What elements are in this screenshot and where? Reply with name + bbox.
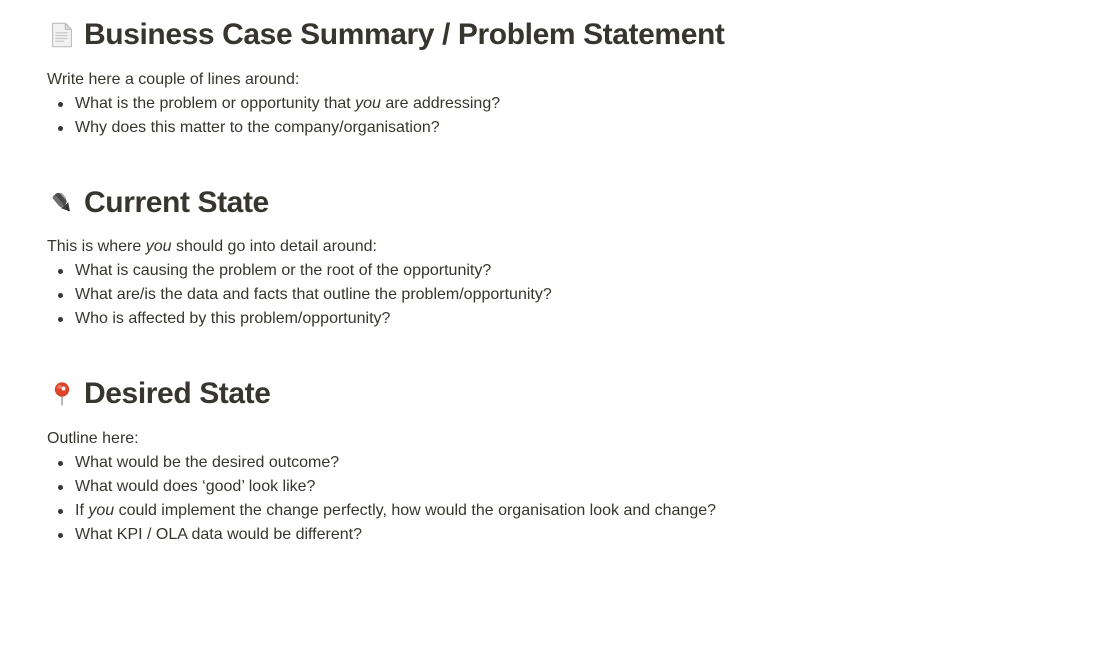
section-heading-desired-state: Desired State <box>47 375 1112 413</box>
section-heading-text: Desired State <box>84 375 271 413</box>
list-item-text-after: are addressing? <box>381 95 500 112</box>
list-item: What KPI / OLA data would be different? <box>47 523 1112 547</box>
section-lead-text: This is where you should go into detail … <box>47 235 1112 259</box>
list-item-text-after: could implement the change perfectly, ho… <box>114 502 716 519</box>
list-item: What would be the desired outcome? <box>47 451 1112 475</box>
list-item-text-before: What KPI / OLA data would be different? <box>75 526 362 543</box>
list-item: What is causing the problem or the root … <box>47 259 1112 283</box>
list-item-emphasis: you <box>88 502 114 519</box>
section-heading-text: Current State <box>84 184 269 222</box>
list-item-text-before: What would does ‘good’ look like? <box>75 478 315 495</box>
list-item-emphasis: you <box>355 95 381 112</box>
list-item-text-before: What is causing the problem or the root … <box>75 262 491 279</box>
lead-text-before: This is where <box>47 238 146 255</box>
section-lead-text: Write here a couple of lines around: <box>47 68 1112 92</box>
document-page: Business Case Summary / Problem Statemen… <box>0 16 1112 547</box>
section-current-state: Current State This is where you should g… <box>47 184 1112 332</box>
list-item-text-before: What are/is the data and facts that outl… <box>75 286 552 303</box>
list-item-text-before: Why does this matter to the company/orga… <box>75 119 440 136</box>
section-desired-state: Desired State Outline here: What would b… <box>47 375 1112 547</box>
section-heading-current-state: Current State <box>47 184 1112 222</box>
bullet-list-desired-state: What would be the desired outcome? What … <box>47 451 1112 547</box>
section-heading-text: Business Case Summary / Problem Statemen… <box>84 16 725 54</box>
list-item: Who is affected by this problem/opportun… <box>47 307 1112 331</box>
round-pushpin-icon <box>47 379 77 409</box>
list-item-text-before: If <box>75 502 88 519</box>
bullet-list-current-state: What is causing the problem or the root … <box>47 259 1112 331</box>
list-item: What would does ‘good’ look like? <box>47 475 1112 499</box>
pen-icon <box>47 187 77 217</box>
list-item: If you could implement the change perfec… <box>47 499 1112 523</box>
lead-text-after: should go into detail around: <box>172 238 377 255</box>
lead-emphasis: you <box>146 238 172 255</box>
list-item: What is the problem or opportunity that … <box>47 92 1112 116</box>
bullet-list-business-case: What is the problem or opportunity that … <box>47 92 1112 140</box>
list-item-text-before: Who is affected by this problem/opportun… <box>75 310 390 327</box>
page-facing-up-icon <box>47 20 77 50</box>
section-lead-text: Outline here: <box>47 427 1112 451</box>
list-item: What are/is the data and facts that outl… <box>47 283 1112 307</box>
section-business-case-summary: Business Case Summary / Problem Statemen… <box>47 16 1112 140</box>
page-title: Business Case Summary / Problem Statemen… <box>47 16 1112 54</box>
list-item-text-before: What is the problem or opportunity that <box>75 95 355 112</box>
list-item-text-before: What would be the desired outcome? <box>75 454 339 471</box>
list-item: Why does this matter to the company/orga… <box>47 116 1112 140</box>
